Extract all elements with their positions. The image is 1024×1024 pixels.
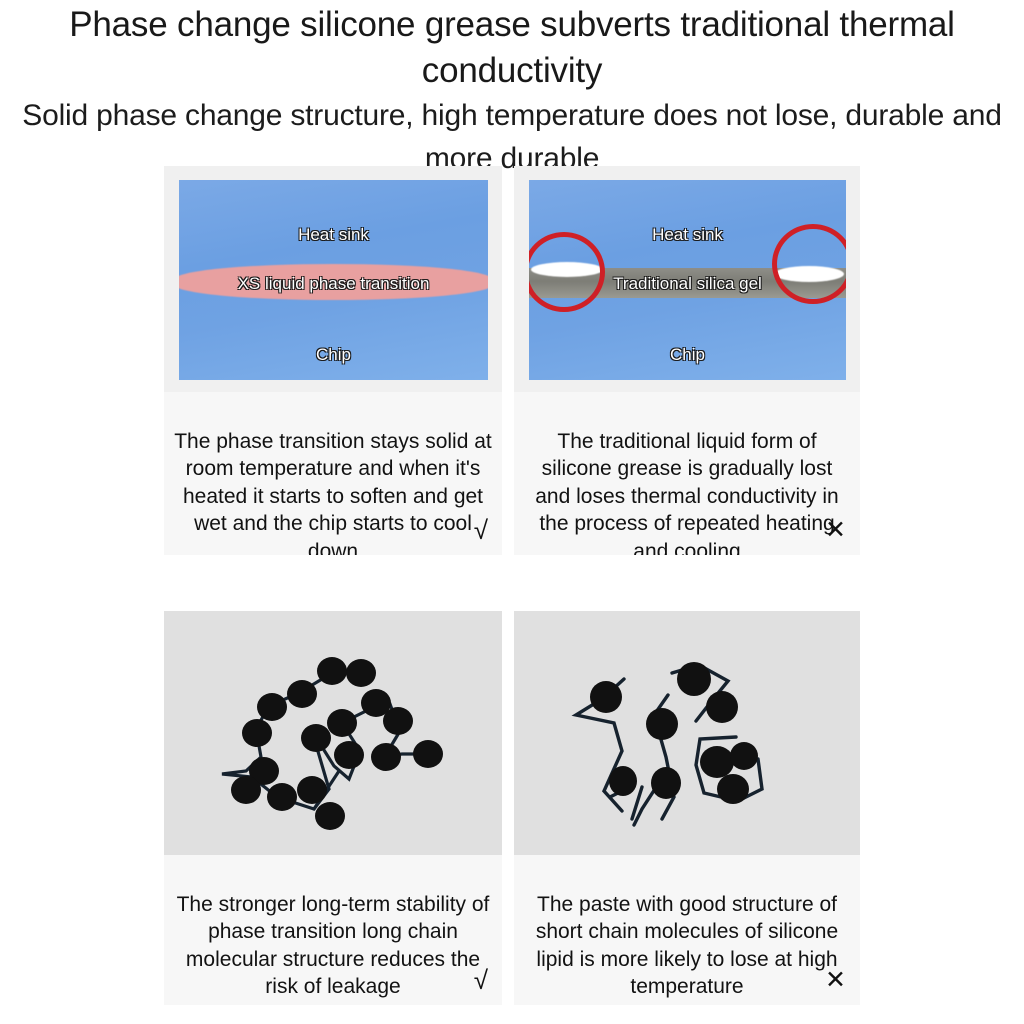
short-chain-molecule-icon — [514, 611, 860, 855]
molecule-nodes — [231, 657, 443, 830]
panel-caption-traditional-silica: The traditional liquid form of silicone … — [514, 392, 860, 555]
chip-label: Chip — [529, 345, 846, 365]
panel-caption-short-chain: The paste with good structure of short c… — [514, 855, 860, 1005]
comparison-grid: Heat sink XS liquid phase transition Chi… — [164, 166, 860, 555]
layer-diagram-traditional-silica: Heat sink Traditional silica gel Chip — [529, 180, 846, 380]
comparison-row-bottom: The stronger long-term stability of phas… — [164, 611, 860, 1005]
chip-label: Chip — [179, 345, 488, 365]
caption-text: The phase transition stays solid at room… — [174, 430, 492, 556]
layer-diagram-phase-change: Heat sink XS liquid phase transition Chi… — [179, 180, 488, 380]
verdict-cross-icon: ✕ — [825, 517, 846, 543]
panel-media-short-chain — [514, 611, 860, 855]
heat-sink-label: Heat sink — [179, 225, 488, 245]
middle-layer-label: XS liquid phase transition — [179, 274, 488, 294]
panel-media-phase-change: Heat sink XS liquid phase transition Chi… — [164, 166, 502, 392]
comparison-row-top: Heat sink XS liquid phase transition Chi… — [164, 166, 860, 555]
panel-media-long-chain — [164, 611, 502, 855]
highlight-circle-left-icon — [529, 232, 605, 312]
caption-text: The stronger long-term stability of phas… — [177, 893, 490, 999]
middle-layer-label: Traditional silica gel — [529, 274, 846, 294]
verdict-check-icon: √ — [474, 517, 488, 543]
panel-caption-long-chain: The stronger long-term stability of phas… — [164, 855, 502, 1005]
page-headline: Phase change silicone grease subverts tr… — [0, 2, 1024, 94]
panel-caption-phase-change: The phase transition stays solid at room… — [164, 392, 502, 555]
panel-short-chain[interactable]: The paste with good structure of short c… — [514, 611, 860, 1005]
caption-text: The paste with good structure of short c… — [536, 893, 838, 999]
caption-text: The traditional liquid form of silicone … — [535, 430, 839, 556]
infographic-page: Phase change silicone grease subverts tr… — [0, 0, 1024, 1024]
long-chain-molecule-icon — [164, 611, 502, 855]
panel-phase-change[interactable]: Heat sink XS liquid phase transition Chi… — [164, 166, 502, 555]
panel-traditional-silica[interactable]: Heat sink Traditional silica gel Chip Th… — [514, 166, 860, 555]
panel-media-traditional-silica: Heat sink Traditional silica gel Chip — [514, 166, 860, 392]
verdict-cross-icon: ✕ — [825, 967, 846, 993]
verdict-check-icon: √ — [474, 967, 488, 993]
panel-long-chain[interactable]: The stronger long-term stability of phas… — [164, 611, 502, 1005]
